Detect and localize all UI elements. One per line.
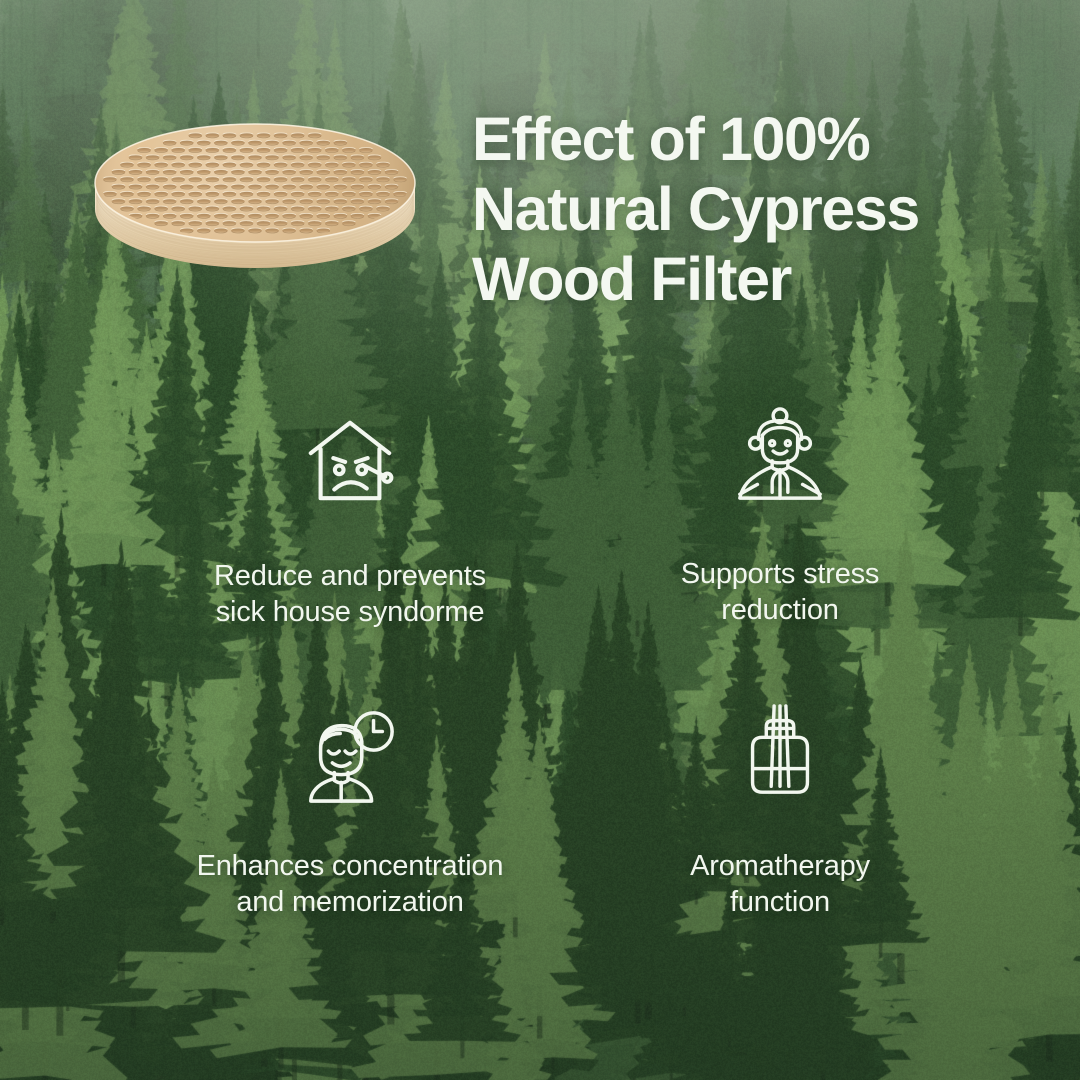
feature-caption: Aromatherapy function — [690, 848, 870, 920]
sick-house-icon — [301, 406, 399, 516]
feature-grid: Reduce and prevents sick house syndorme — [150, 392, 950, 972]
title-line-3: Wood Filter — [472, 244, 1052, 314]
feature-item-concentration: Enhances concentration and memorization — [150, 682, 550, 972]
feature-item-sick-house: Reduce and prevents sick house syndorme — [150, 392, 550, 682]
feature-caption: Enhances concentration and memorization — [197, 848, 504, 920]
concentration-clock-icon — [301, 700, 399, 810]
wood-disc-render — [85, 108, 425, 288]
cypress-wood-filter-disc — [85, 108, 425, 288]
page-title: Effect of 100% Natural Cypress Wood Filt… — [472, 104, 1052, 314]
feature-caption: Supports stress reduction — [681, 556, 879, 628]
title-line-2: Natural Cypress — [472, 174, 1052, 244]
feature-caption: Reduce and prevents sick house syndorme — [214, 558, 486, 630]
feature-item-stress-reduction: Supports stress reduction — [580, 392, 980, 682]
reed-diffuser-icon — [731, 696, 829, 806]
poster-canvas: Effect of 100% Natural Cypress Wood Filt… — [0, 0, 1080, 1080]
feature-item-aromatherapy: Aromatherapy function — [580, 682, 980, 972]
meditating-person-icon — [731, 400, 829, 510]
title-line-1: Effect of 100% — [472, 104, 1052, 174]
